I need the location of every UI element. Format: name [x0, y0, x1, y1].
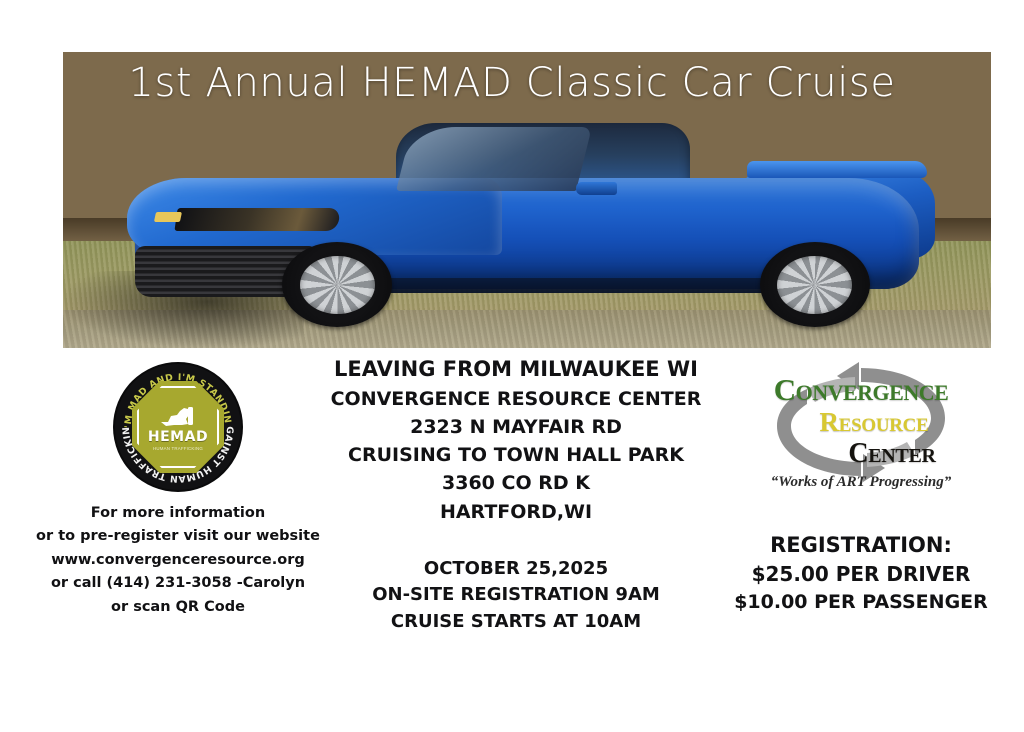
info-columns: I'M MAD AND I'M STANDING AGAINST HUMAN T…	[0, 348, 1024, 638]
info-line-1: For more information	[18, 502, 338, 525]
qr-line: or scan QR Code	[18, 596, 338, 619]
crc-word-convergence: Convergence	[735, 374, 987, 405]
car-headlight	[174, 208, 341, 231]
location-line-6: HARTFORD,WI	[330, 498, 702, 526]
left-info-block: For more information or to pre-register …	[18, 502, 338, 619]
hemad-center-word: HEMAD	[148, 430, 208, 444]
right-column: Convergence Resource Center “Works of AR…	[706, 352, 1016, 617]
convergence-resource-center-logo: Convergence Resource Center “Works of AR…	[735, 360, 987, 500]
location-line-3: 2323 N MAYFAIR RD	[330, 413, 702, 441]
car-windshield	[397, 127, 593, 191]
registration-heading: REGISTRATION:	[706, 530, 1016, 560]
crc-word-center: Center	[797, 440, 987, 468]
car-rocker-panel	[364, 278, 789, 293]
event-date: OCTOBER 25,2025	[330, 556, 702, 583]
passenger-price: $10.00 PER PASSENGER	[706, 589, 1016, 617]
registration-time: ON-SITE REGISTRATION 9AM	[330, 582, 702, 609]
flyer-page: { "flyer": { "title": "1st Annual HEMAD …	[0, 0, 1024, 732]
hemad-hand-emblem-icon	[158, 403, 198, 429]
location-line-2: CONVERGENCE RESOURCE CENTER	[330, 385, 702, 413]
phone-line[interactable]: or call (414) 231-3058 -Carolyn	[18, 572, 338, 595]
chevrolet-bowtie-icon	[154, 212, 182, 222]
center-spacer	[330, 526, 702, 556]
crc-word-resource: Resource	[761, 409, 987, 436]
car-side-mirror	[576, 182, 617, 195]
info-line-2: or to pre-register visit our website	[18, 525, 338, 548]
center-column: LEAVING FROM MILWAUKEE WI CONVERGENCE RE…	[330, 354, 702, 636]
car-rear-wheel	[760, 242, 870, 327]
camaro-convertible-photo	[119, 114, 936, 327]
hero-photo	[63, 52, 991, 348]
car-spoiler	[747, 161, 927, 178]
location-line-5: 3360 CO RD K	[330, 469, 702, 497]
crc-tagline: “Works of ART Progressing”	[735, 474, 987, 491]
website-line[interactable]: www.convergenceresource.org	[18, 549, 338, 572]
left-column: I'M MAD AND I'M STANDING AGAINST HUMAN T…	[18, 356, 338, 619]
crc-wordmark: Convergence Resource Center	[735, 374, 987, 468]
hemad-logo: I'M MAD AND I'M STANDING AGAINST HUMAN T…	[115, 364, 241, 490]
location-line-1: LEAVING FROM MILWAUKEE WI	[330, 354, 702, 385]
driver-price: $25.00 PER DRIVER	[706, 560, 1016, 589]
location-line-4: CRUISING TO TOWN HALL PARK	[330, 441, 702, 469]
car-front-wheel	[282, 242, 392, 327]
cruise-start-time: CRUISE STARTS AT 10AM	[330, 609, 702, 636]
hemad-center-sub: HUMAN TRAFFICKING	[145, 446, 211, 452]
registration-block: REGISTRATION: $25.00 PER DRIVER $10.00 P…	[706, 530, 1016, 617]
